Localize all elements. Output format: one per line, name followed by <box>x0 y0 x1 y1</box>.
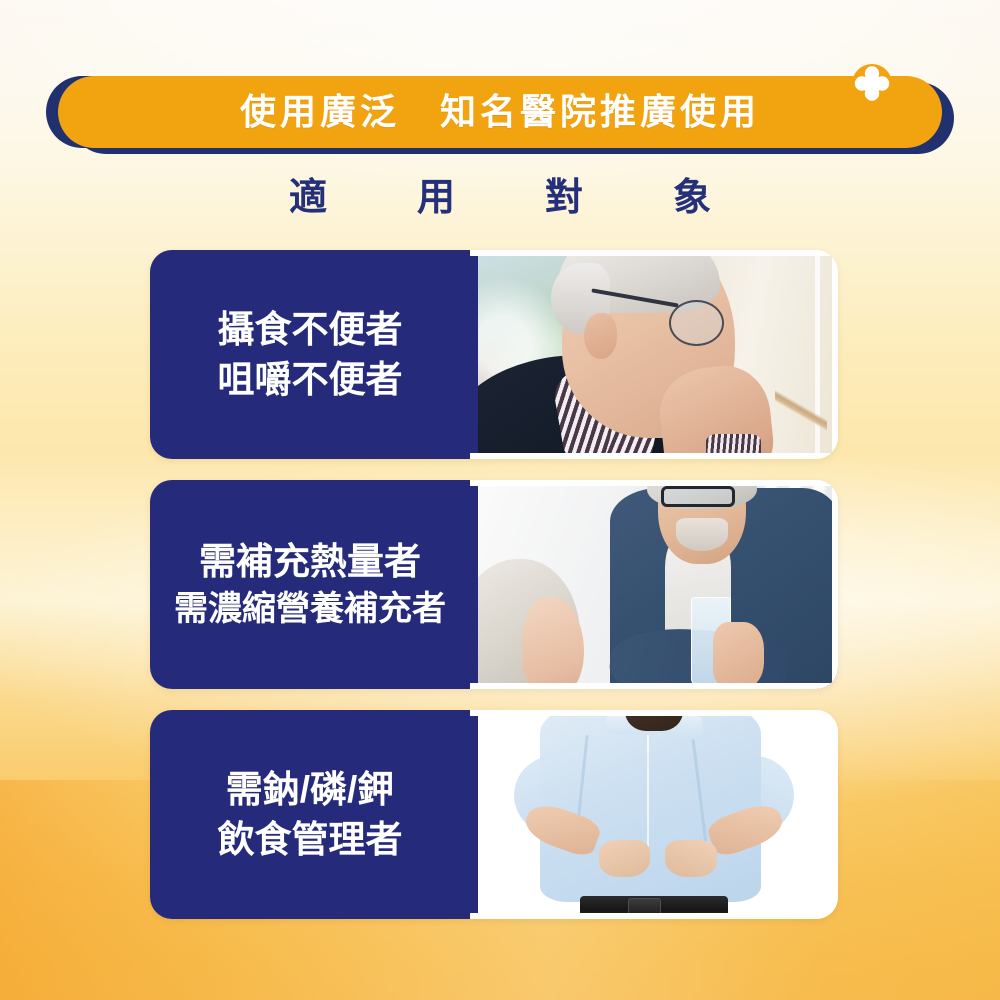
card-label-panel: 需補充熱量者 需濃縮營養補充者 <box>150 480 470 689</box>
audience-card-list: 攝食不便者 咀嚼不便者 需補充熱量者 <box>150 250 838 940</box>
photo-inset-right <box>832 710 838 919</box>
card-edge-sliver <box>470 480 478 689</box>
photo-inset-bottom <box>470 453 838 459</box>
photo-inset-top <box>470 250 838 256</box>
banner-orange-bar: 使用廣泛 知名醫院推廣使用 <box>58 76 942 148</box>
photo-inset-bottom <box>470 913 838 919</box>
audience-card[interactable]: 需補充熱量者 需濃縮營養補充者 <box>150 480 838 689</box>
photo-inset-top <box>470 480 838 486</box>
card-label-line: 需濃縮營養補充者 <box>174 587 446 633</box>
clover-icon <box>850 60 894 104</box>
card-edge-sliver <box>470 250 478 459</box>
photo-inset-right <box>832 480 838 689</box>
card-label-line: 飲食管理者 <box>218 815 403 865</box>
card-label-line: 需補充熱量者 <box>199 537 421 587</box>
man-offering-glass-of-water-photo <box>470 480 838 689</box>
card-label-line: 攝食不便者 <box>218 305 403 355</box>
ear <box>584 313 617 359</box>
card-label-panel: 攝食不便者 咀嚼不便者 <box>150 250 470 459</box>
card-edge-sliver <box>470 710 478 919</box>
light-blue-shirt <box>540 710 761 902</box>
man-beard <box>676 518 728 551</box>
banner-title: 使用廣泛 知名醫院推廣使用 <box>240 94 760 130</box>
card-label-panel: 需鈉/磷/鉀 飲食管理者 <box>150 710 470 919</box>
top-banner: 使用廣泛 知名醫院推廣使用 <box>58 76 942 148</box>
photo-inset-right <box>832 250 838 459</box>
left-hand-on-back <box>599 840 651 878</box>
cane <box>775 371 827 450</box>
man-hand <box>713 622 765 689</box>
man-with-lower-back-pain-photo <box>470 710 838 919</box>
photo-inset-bottom <box>470 683 838 689</box>
card-label-line: 咀嚼不便者 <box>218 355 403 405</box>
card-label-line: 需鈉/磷/鉀 <box>226 765 395 815</box>
man-glasses <box>661 486 735 507</box>
audience-card[interactable]: 攝食不便者 咀嚼不便者 <box>150 250 838 459</box>
section-title: 適 用 對 象 <box>0 178 1000 220</box>
elderly-man-holding-cheek-photo <box>470 250 838 459</box>
photo-inset-top <box>470 710 838 716</box>
glasses-lens <box>669 300 724 346</box>
right-hand-on-back <box>665 840 717 878</box>
audience-card[interactable]: 需鈉/磷/鉀 飲食管理者 <box>150 710 838 919</box>
